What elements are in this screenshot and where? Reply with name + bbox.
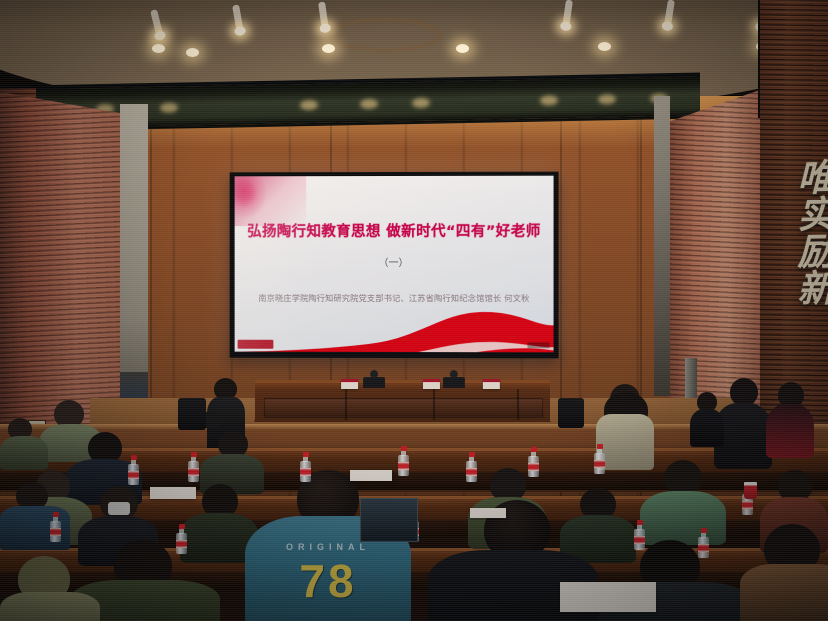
downlight-icon [456,44,469,53]
attendee [640,460,726,536]
water-bottle [128,455,139,485]
water-bottle [50,512,61,542]
attendee [766,382,814,456]
laptop[interactable] [360,498,418,542]
water-bottle [698,528,709,558]
paper-sheet [350,470,392,481]
attendee-foreground-far-left [0,556,100,621]
water-bottle [634,520,645,550]
slide-byline: 南京晓庄学院陶行知研究院党支部书记、江苏省陶行知纪念馆馆长 何文秋 [235,292,554,304]
slide-red-wave-graphic [235,304,554,352]
downlight-icon [598,42,611,51]
attendee [690,392,724,444]
water-bottle [398,446,409,476]
ceiling-ring-detail [330,18,440,52]
attendee [0,418,48,466]
paper-sheet [470,508,506,518]
water-bottle [466,452,477,482]
downlight-icon [152,44,165,53]
stage-chair [178,398,206,430]
paper-sheet [150,487,196,499]
slide-taskbar-right [527,342,549,348]
microphone-icon [363,377,385,388]
wall-calligraphy-text: 唯实励新 [784,158,828,307]
projection-screen[interactable]: 弘扬陶行知教育思想 做新时代“四有”好老师 （一） 南京晓庄学院陶行知研究院党支… [230,172,559,359]
water-bottle [594,444,605,474]
stage-chair-right [558,398,584,428]
attendee-foreground-far-right [740,524,828,621]
jersey-number: 78 [245,554,411,608]
face-mask [108,502,130,515]
attendee-foreground-jersey: ORIGINAL 78 [245,470,411,621]
name-card [341,379,358,389]
jersey-word: ORIGINAL [245,542,411,552]
downlight-icon [186,48,199,57]
name-card [423,379,440,389]
downlight-icon [322,44,335,53]
coffee-cup [744,482,757,499]
microphone-icon [443,377,465,388]
slide-title: 弘扬陶行知教育思想 做新时代“四有”好老师 [235,220,554,241]
water-bottle [176,524,187,554]
head-table [255,380,551,422]
slide-taskbar-badge [238,340,274,349]
water-bottle [300,452,311,482]
lecture-hall-photograph: 唯实励新 弘扬陶行知教育思想 做新时代“四有”好老师 （一） 南京晓庄学院陶行知… [0,0,828,621]
right-wall-gap [654,96,670,396]
slide-section-marker: （一） [235,254,554,269]
paper-sheet [560,582,656,612]
slide-corner-gradient-overlay [235,176,307,226]
water-bottle [528,447,539,477]
water-bottle [188,452,199,482]
slide-surface: 弘扬陶行知教育思想 做新时代“四有”好老师 （一） 南京晓庄学院陶行知研究院党支… [235,176,554,353]
name-card [483,379,500,389]
